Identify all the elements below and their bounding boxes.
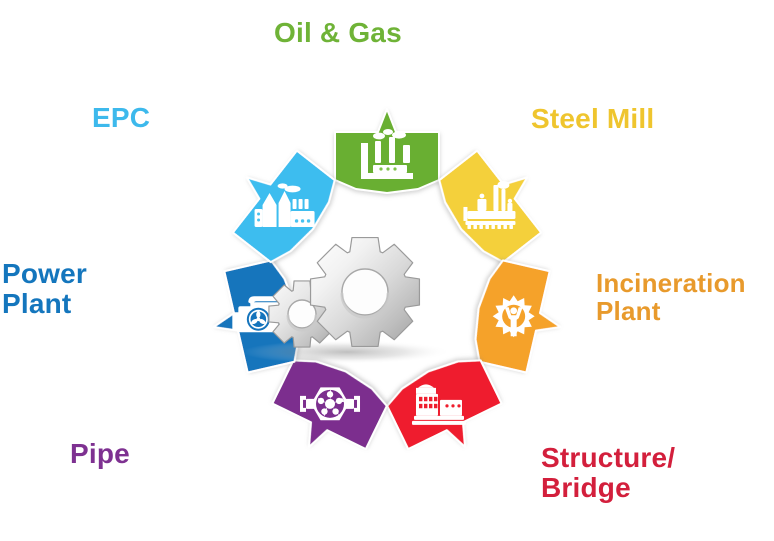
label-pipe: Pipe — [70, 439, 130, 469]
segment-oil-gas[interactable] — [335, 109, 439, 193]
segment-steel-mill[interactable] — [429, 136, 559, 270]
label-power-plant: Power Plant — [2, 259, 87, 319]
label-structure-bridge: Structure/ Bridge — [541, 443, 675, 503]
label-epc: EPC — [92, 103, 150, 133]
segment-incineration-plant[interactable] — [467, 257, 572, 377]
segment-epc[interactable] — [215, 136, 345, 270]
segment-structure-bridge[interactable] — [381, 349, 511, 470]
label-steel-mill: Steel Mill — [531, 104, 654, 134]
segment-shape[interactable] — [335, 109, 439, 193]
label-incineration-plant: Incineration Plant — [596, 269, 746, 325]
gear-hub-hole — [342, 269, 388, 315]
label-oil-gas: Oil & Gas — [274, 18, 402, 48]
segment-pipe[interactable] — [262, 349, 392, 470]
diagram-canvas: Oil & Gas EPC Steel Mill Incineration Pl… — [0, 0, 774, 541]
